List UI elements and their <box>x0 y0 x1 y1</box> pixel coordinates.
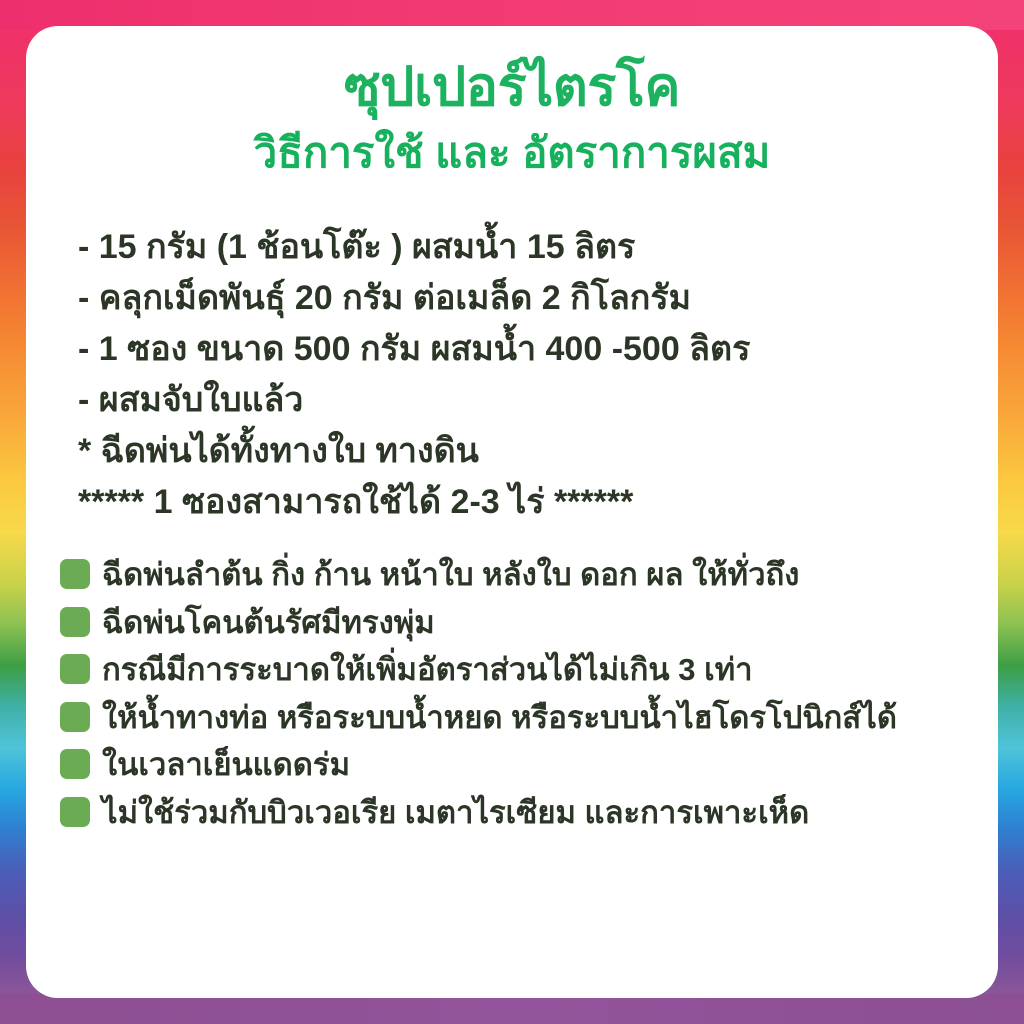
info-card: ซุปเปอร์ไตรโค วิธีการใช้ และ อัตราการผสม… <box>26 26 998 998</box>
list-item: - 15 กรัม (1 ช้อนโต๊ะ ) ผสมน้ำ 15 ลิตร <box>78 222 964 273</box>
green-square-bullet-icon <box>60 607 90 637</box>
list-item: - 1 ซอง ขนาด 500 กรัม ผสมน้ำ 400 -500 ลิ… <box>78 324 964 375</box>
poster-container: ซุปเปอร์ไตรโค วิธีการใช้ และ อัตราการผสม… <box>0 0 1024 1024</box>
list-item: - ผสมจับใบแล้ว <box>78 375 964 426</box>
list-item: ***** 1 ซองสามารถใช้ได้ 2-3 ไร่ ****** <box>78 477 964 528</box>
usage-list: ฉีดพ่นลำต้น กิ่ง ก้าน หน้าใบ หลังใบ ดอก … <box>60 528 964 835</box>
dosage-list: - 15 กรัม (1 ช้อนโต๊ะ ) ผสมน้ำ 15 ลิตร -… <box>60 178 964 528</box>
green-square-bullet-icon <box>60 749 90 779</box>
list-item: ฉีดพ่นโคนต้นรัศมีทรงพุ่ม <box>60 600 964 646</box>
green-square-bullet-icon <box>60 559 90 589</box>
green-square-bullet-icon <box>60 702 90 732</box>
list-item: ไม่ใช้ร่วมกับบิวเวอเรีย เมตาไรเซียม และก… <box>60 790 964 836</box>
list-item: ในเวลาเย็นแดดร่ม <box>60 742 964 788</box>
list-item-label: ไม่ใช้ร่วมกับบิวเวอเรีย เมตาไรเซียม และก… <box>102 795 809 830</box>
list-item: - คลุกเม็ดพันธุ์ 20 กรัม ต่อเมล็ด 2 กิโล… <box>78 273 964 324</box>
green-square-bullet-icon <box>60 797 90 827</box>
list-item: * ฉีดพ่นได้ทั้งทางใบ ทางดิน <box>78 426 964 477</box>
list-item: กรณีมีการระบาดให้เพิ่มอัตราส่วนได้ไม่เกิ… <box>60 647 964 693</box>
list-item-label: ในเวลาเย็นแดดร่ม <box>102 747 350 782</box>
list-item: ให้น้ำทางท่อ หรือระบบน้ำหยด หรือระบบน้ำไ… <box>60 695 964 741</box>
list-item-label: ฉีดพ่นโคนต้นรัศมีทรงพุ่ม <box>102 605 435 640</box>
list-item: ฉีดพ่นลำต้น กิ่ง ก้าน หน้าใบ หลังใบ ดอก … <box>60 552 964 598</box>
page-subtitle: วิธีการใช้ และ อัตราการผสม <box>60 120 964 178</box>
list-item-label: ให้น้ำทางท่อ หรือระบบน้ำหยด หรือระบบน้ำไ… <box>102 700 897 735</box>
list-item-label: ฉีดพ่นลำต้น กิ่ง ก้าน หน้าใบ หลังใบ ดอก … <box>102 557 799 592</box>
list-item-label: กรณีมีการระบาดให้เพิ่มอัตราส่วนได้ไม่เกิ… <box>102 652 753 687</box>
green-square-bullet-icon <box>60 654 90 684</box>
page-title: ซุปเปอร์ไตรโค <box>60 44 964 120</box>
